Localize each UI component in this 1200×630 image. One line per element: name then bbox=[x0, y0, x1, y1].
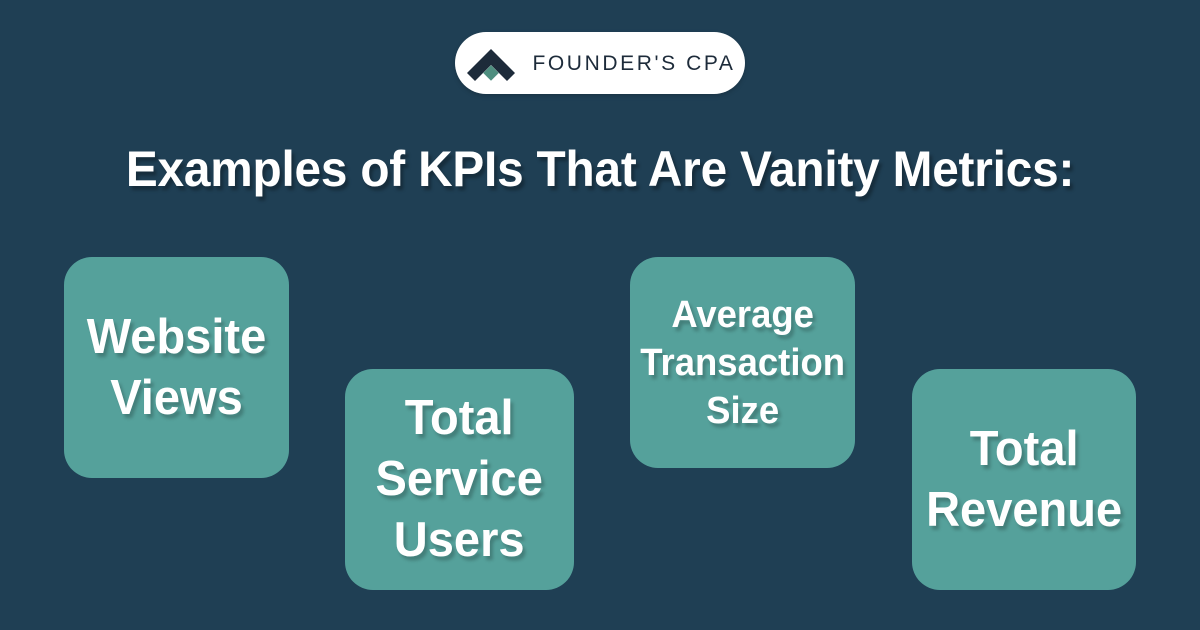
metric-card-label: Total Revenue bbox=[926, 419, 1122, 541]
page-title: Examples of KPIs That Are Vanity Metrics… bbox=[27, 138, 1173, 200]
metric-card-total-revenue: Total Revenue bbox=[912, 369, 1136, 590]
metric-card-label: Average Transaction Size bbox=[640, 291, 845, 435]
chevron-up-diamond-icon bbox=[464, 43, 518, 83]
brand-logo-pill: FOUNDER'S CPA bbox=[455, 32, 745, 94]
metric-card-total-service-users: Total Service Users bbox=[345, 369, 574, 590]
metric-card-label: Website Views bbox=[87, 307, 267, 429]
metric-card-website-views: Website Views bbox=[64, 257, 289, 478]
metric-card-avg-transaction-size: Average Transaction Size bbox=[630, 257, 855, 468]
metric-card-label: Total Service Users bbox=[376, 388, 543, 571]
infographic-canvas: FOUNDER'S CPA Examples of KPIs That Are … bbox=[0, 0, 1200, 630]
brand-wordmark: FOUNDER'S CPA bbox=[532, 53, 735, 74]
